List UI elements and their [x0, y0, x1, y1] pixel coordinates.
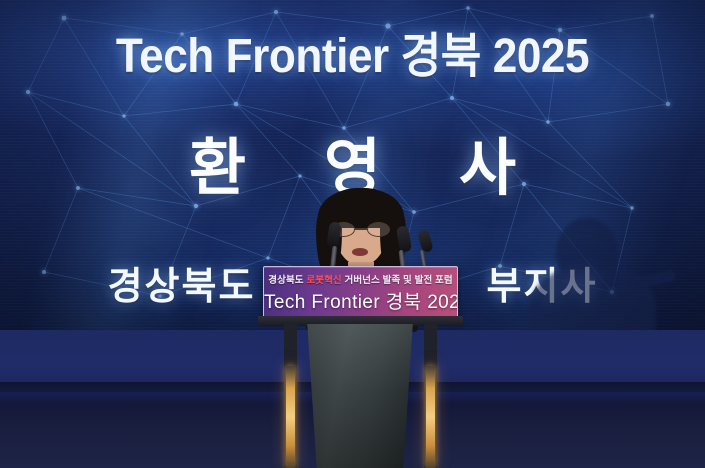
- presentation-stage-scene: Tech Frontier 경북 2025 환영사 경상북도 부지사: [0, 0, 705, 468]
- podium: 경상북도 로봇혁신 거버넌스 발족 및 발전 포럼 Tech Frontier …: [258, 266, 463, 468]
- glasses-bridge: [355, 228, 367, 230]
- podium-accent-light-left: [286, 366, 295, 468]
- podium-accent-light-right: [426, 366, 435, 468]
- podium-body-shading: [300, 324, 420, 468]
- slide-title: Tech Frontier 경북 2025: [28, 33, 677, 81]
- podium-banner-sign: 경상북도 로봇혁신 거버넌스 발족 및 발전 포럼 Tech Frontier …: [263, 266, 458, 320]
- podium-sign-line-1: 경상북도 로봇혁신 거버넌스 발족 및 발전 포럼: [264, 276, 457, 286]
- speaker-mouth: [352, 248, 368, 256]
- podium-sign-line-2: Tech Frontier 경북 2025: [264, 293, 457, 312]
- slide-subtitle-right: 부지사: [487, 266, 598, 308]
- podium-sign-suffix: 거버넌스 발족 및 발전 포럼: [342, 275, 453, 286]
- glasses-lens-right: [367, 222, 390, 237]
- slide-subtitle-left: 경상북도: [108, 266, 256, 308]
- podium-sign-highlight: 로봇혁신: [306, 275, 341, 286]
- podium-sign-prefix: 경상북도: [268, 275, 306, 286]
